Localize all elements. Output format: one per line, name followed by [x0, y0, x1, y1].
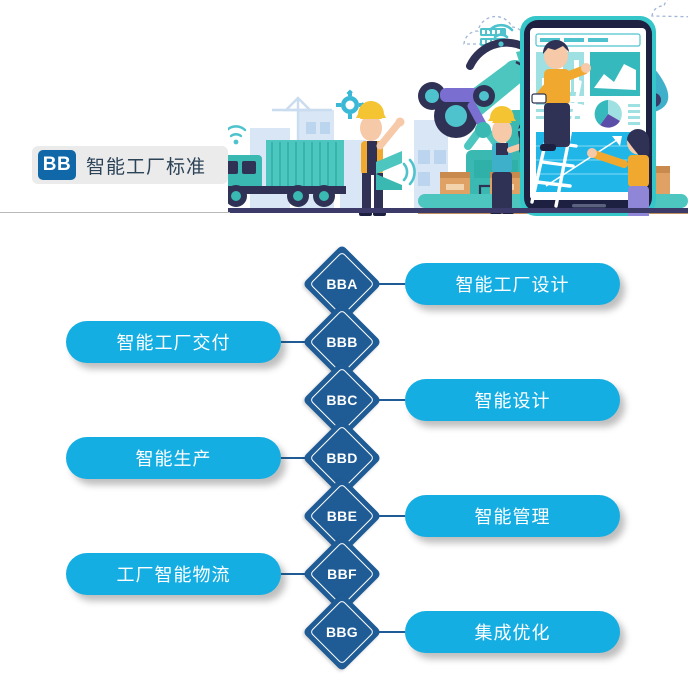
label-pill-bbd[interactable]: 智能生产 — [66, 437, 281, 479]
label-pill-bbf[interactable]: 工厂智能物流 — [66, 553, 281, 595]
label-pill-bbc[interactable]: 智能设计 — [405, 379, 620, 421]
page-title: 智能工厂标准 — [86, 152, 206, 179]
diamond-node-bbg[interactable]: BBG — [314, 604, 370, 660]
header-divider — [0, 212, 230, 213]
label-pill-text: 智能工厂交付 — [117, 329, 231, 355]
label-pill-text: 智能设计 — [475, 387, 551, 413]
label-pill-bbe[interactable]: 智能管理 — [405, 495, 620, 537]
label-pill-text: 智能工厂设计 — [456, 271, 570, 297]
bb-badge: BB — [38, 150, 76, 180]
slide-root: BB 智能工厂标准 智能工厂设计BBA智能工厂交付BBB智能设计BBC智能生产B… — [0, 0, 688, 692]
smart-factory-illustration — [228, 0, 688, 216]
label-pill-text: 集成优化 — [475, 619, 551, 645]
label-pill-bbg[interactable]: 集成优化 — [405, 611, 620, 653]
label-pill-text: 智能生产 — [136, 445, 212, 471]
diamond-node-code: BBG — [314, 604, 370, 660]
label-pill-text: 工厂智能物流 — [117, 561, 231, 587]
slide-title-block: BB 智能工厂标准 — [32, 146, 228, 184]
label-pill-bbb[interactable]: 智能工厂交付 — [66, 321, 281, 363]
process-diagram: 智能工厂设计BBA智能工厂交付BBB智能设计BBC智能生产BBD智能管理BBE工… — [0, 236, 688, 692]
label-pill-text: 智能管理 — [475, 503, 551, 529]
label-pill-bba[interactable]: 智能工厂设计 — [405, 263, 620, 305]
